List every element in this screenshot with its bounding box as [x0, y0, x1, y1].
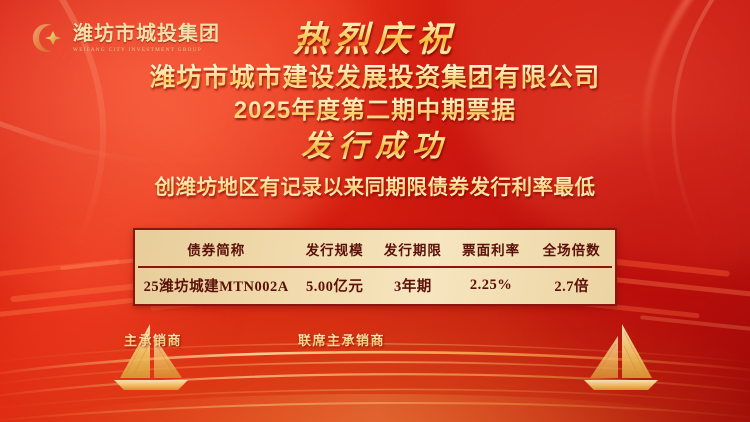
golden-sailboat-right-icon — [576, 322, 668, 396]
headline-celebrate: 热烈庆祝 — [0, 18, 750, 62]
table-header-term: 发行期限 — [375, 233, 451, 266]
headline-issue: 2025年度第二期中期票据 — [0, 95, 750, 127]
table-header-coupon: 票面利率 — [451, 233, 532, 266]
table-header-issue-size: 发行规模 — [294, 233, 375, 266]
table-cell-coupon: 2.25% — [451, 268, 532, 302]
celebration-poster: 潍坊市城投集团 WEIFANG CITY INVESTMENT GROUP 热烈… — [0, 0, 750, 422]
table-header-row: 债券简称 发行规模 发行期限 票面利率 全场倍数 — [138, 233, 612, 266]
table-header-bond-name: 债券简称 — [138, 233, 294, 266]
table-cell-issue-size: 5.00亿元 — [294, 268, 375, 302]
headline-company: 潍坊市城市建设发展投资集团有限公司 — [0, 62, 750, 96]
lead-underwriter-group: 主承销商 — [124, 330, 182, 349]
headline-block: 热烈庆祝 潍坊市城市建设发展投资集团有限公司 2025年度第二期中期票据 发行成… — [0, 18, 750, 200]
headline-subtitle: 创潍坊地区有记录以来同期限债券发行利率最低 — [0, 170, 750, 200]
lead-underwriter-label: 主承销商 — [124, 330, 182, 349]
headline-success: 发行成功 — [0, 127, 750, 166]
joint-underwriter-label: 联席主承销商 — [298, 330, 385, 349]
table-row: 25潍坊城建MTN002A 5.00亿元 3年期 2.25% 2.7倍 — [138, 268, 612, 302]
table-cell-bond-name: 25潍坊城建MTN002A — [138, 268, 294, 302]
joint-underwriter-group: 联席主承销商 — [298, 330, 385, 349]
bond-summary-table: 债券简称 发行规模 发行期限 票面利率 全场倍数 25潍坊城建MTN002A 5… — [133, 228, 617, 306]
table-cell-multiple: 2.7倍 — [531, 268, 612, 302]
table-header-multiple: 全场倍数 — [531, 233, 612, 266]
table-cell-term: 3年期 — [375, 268, 451, 302]
